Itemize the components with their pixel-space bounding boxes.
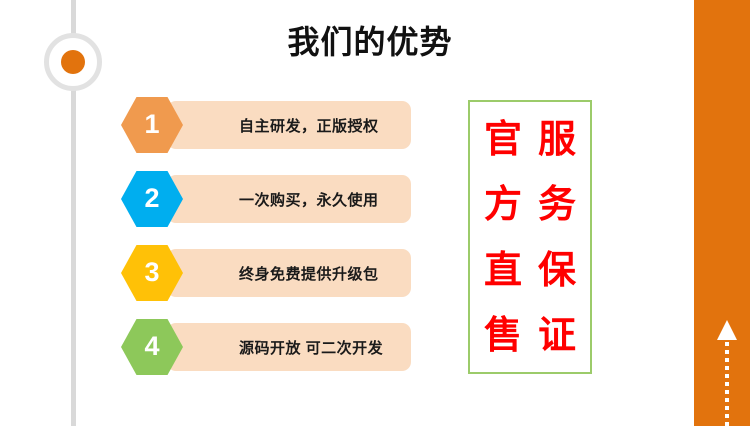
slogan-char: 官 — [484, 120, 522, 158]
advantage-number-4: 4 — [144, 333, 159, 362]
advantage-label-2: 一次购买，永久使用 — [239, 189, 379, 210]
advantage-pill-3: 终身免费提供升级包 — [167, 249, 411, 297]
timeline-node-dot — [61, 50, 85, 74]
slogan-char: 直 — [484, 251, 522, 289]
advantage-pill-1: 自主研发，正版授权 — [167, 101, 411, 149]
slogan-column-right: 服 务 保 证 — [530, 106, 584, 368]
slogan-box: 官 方 直 售 服 务 保 证 — [468, 100, 592, 374]
up-arrow-icon — [717, 320, 737, 340]
timeline-node — [44, 33, 102, 91]
list-item[interactable]: 源码开放 可二次开发 4 — [121, 319, 411, 375]
slogan-char: 保 — [538, 251, 576, 289]
advantage-label-3: 终身免费提供升级包 — [239, 263, 379, 284]
slogan-char: 务 — [538, 185, 576, 223]
page-title: 我们的优势 — [180, 22, 560, 62]
list-item[interactable]: 自主研发，正版授权 1 — [121, 97, 411, 153]
advantage-list: 自主研发，正版授权 1 一次购买，永久使用 2 终身免费提供升级包 3 — [121, 97, 411, 393]
advantage-number-3: 3 — [144, 259, 159, 288]
advantage-number-1: 1 — [144, 111, 159, 140]
advantage-number-2: 2 — [144, 185, 159, 214]
slogan-char: 方 — [484, 185, 522, 223]
slogan-char: 售 — [484, 316, 522, 354]
dotted-line-decoration — [725, 342, 729, 426]
advantage-label-4: 源码开放 可二次开发 — [239, 337, 383, 358]
list-item[interactable]: 一次购买，永久使用 2 — [121, 171, 411, 227]
slogan-column-left: 官 方 直 售 — [476, 106, 530, 368]
advantage-pill-2: 一次购买，永久使用 — [167, 175, 411, 223]
slogan-char: 证 — [538, 316, 576, 354]
side-band — [694, 0, 750, 426]
slogan-char: 服 — [538, 120, 576, 158]
slide-canvas: 我们的优势 自主研发，正版授权 1 一次购买，永久使用 2 终身免费提供升级包 — [0, 0, 750, 426]
list-item[interactable]: 终身免费提供升级包 3 — [121, 245, 411, 301]
advantage-pill-4: 源码开放 可二次开发 — [167, 323, 411, 371]
advantage-label-1: 自主研发，正版授权 — [239, 115, 379, 136]
